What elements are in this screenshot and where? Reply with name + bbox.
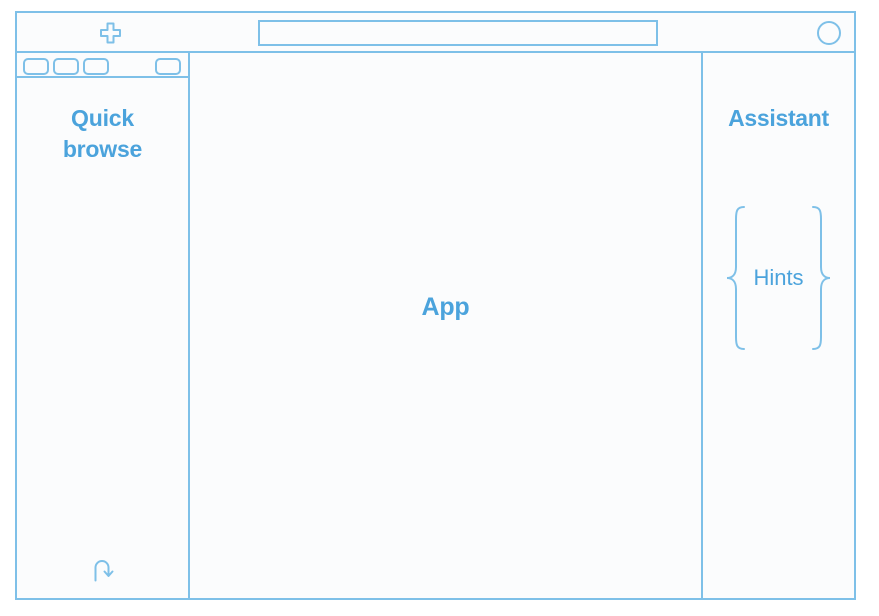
- app-label: App: [190, 53, 701, 598]
- right-brace-icon: [810, 205, 832, 351]
- return-uturn-icon[interactable]: [88, 555, 118, 585]
- sidebar-title-line-1: Quick: [17, 103, 188, 134]
- sidebar-toolbar: [17, 53, 188, 78]
- quick-browse-sidebar: Quick browse: [17, 53, 190, 598]
- assistant-panel: Assistant Hints: [703, 53, 854, 598]
- sidebar-tool-3-button[interactable]: [83, 58, 109, 75]
- hints-label: Hints: [747, 265, 809, 291]
- assistant-title: Assistant: [703, 105, 854, 132]
- left-brace-icon: [725, 205, 747, 351]
- window-header: [17, 13, 854, 53]
- app-window: Quick browse App Assistant: [15, 11, 856, 600]
- search-input[interactable]: [258, 20, 658, 46]
- sidebar-tool-1-button[interactable]: [23, 58, 49, 75]
- sidebar-tool-2-button[interactable]: [53, 58, 79, 75]
- window-body: Quick browse App Assistant: [17, 53, 854, 598]
- circle-avatar-icon[interactable]: [817, 21, 841, 45]
- sidebar-tool-4-button[interactable]: [155, 58, 181, 75]
- app-main-panel: App: [190, 53, 703, 598]
- sidebar-title-line-2: browse: [17, 134, 188, 165]
- hints-group: Hints: [703, 205, 854, 351]
- plus-icon[interactable]: [98, 21, 123, 46]
- sidebar-title: Quick browse: [17, 103, 188, 165]
- wireframe-canvas: Quick browse App Assistant: [0, 0, 879, 616]
